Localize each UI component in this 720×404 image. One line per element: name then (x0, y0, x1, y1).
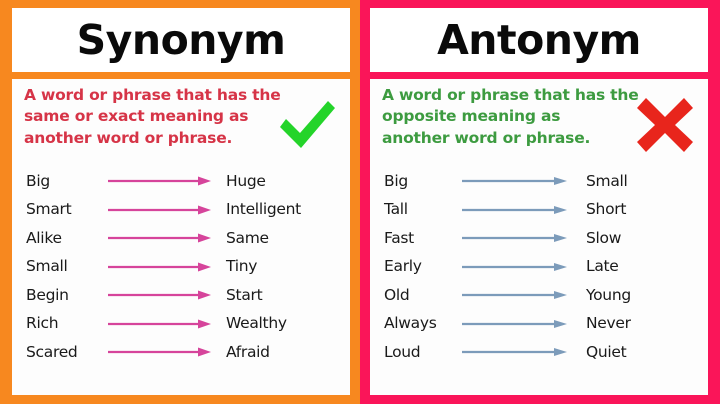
synonym-body-box: A word or phrase that has the same or ex… (12, 79, 350, 395)
antonym-source-word: Always (384, 316, 462, 332)
arrow-right-icon (108, 176, 216, 186)
arrow-right-icon (462, 347, 572, 357)
check-mark-icon (276, 95, 338, 155)
antonym-target-word: Young (572, 288, 700, 304)
arrow-right-icon (462, 233, 572, 243)
synonym-target-word: Tiny (216, 259, 342, 275)
synonym-panel: Synonym A word or phrase that has the sa… (0, 0, 360, 404)
arrow-right-icon (462, 176, 572, 186)
antonym-pair-list: Big Small Tall (370, 167, 708, 367)
synonym-panel-divider (12, 72, 350, 79)
synonym-source-word: Big (26, 174, 108, 190)
table-row: Always Never (384, 310, 700, 339)
antonym-body-box: A word or phrase that has the opposite m… (370, 79, 708, 395)
arrow-right-icon (108, 262, 216, 272)
table-row: Big Small (384, 167, 700, 196)
antonym-source-word: Loud (384, 345, 462, 361)
arrow-right-icon (462, 290, 572, 300)
arrow-right-icon (462, 205, 572, 215)
table-row: Scared Afraid (26, 338, 342, 367)
table-row: Fast Slow (384, 224, 700, 253)
antonym-panel: Antonym A word or phrase that has the op… (360, 0, 720, 404)
antonym-target-word: Slow (572, 231, 700, 247)
synonym-source-word: Smart (26, 202, 108, 218)
table-row: Tall Short (384, 196, 700, 225)
synonym-description-line-3: another word or phrase. (24, 128, 279, 149)
table-row: Begin Start (26, 281, 342, 310)
arrow-right-icon (108, 290, 216, 300)
arrow-right-icon (462, 262, 572, 272)
antonym-target-word: Late (572, 259, 700, 275)
antonym-source-word: Fast (384, 231, 462, 247)
table-row: Early Late (384, 253, 700, 282)
arrow-right-icon (108, 319, 216, 329)
synonym-source-word: Scared (26, 345, 108, 361)
antonym-description-line-1: A word or phrase that has the (382, 85, 637, 106)
antonym-source-word: Early (384, 259, 462, 275)
antonym-description-line-2: opposite meaning as (382, 106, 637, 127)
synonym-description-line-1: A word or phrase that has the (24, 85, 279, 106)
antonym-target-word: Never (572, 316, 700, 332)
synonym-target-word: Same (216, 231, 342, 247)
synonym-target-word: Huge (216, 174, 342, 190)
antonym-target-word: Quiet (572, 345, 700, 361)
synonym-antonym-infographic: Synonym A word or phrase that has the sa… (0, 0, 720, 404)
table-row: Loud Quiet (384, 338, 700, 367)
synonym-target-word: Start (216, 288, 342, 304)
synonym-target-word: Intelligent (216, 202, 342, 218)
synonym-source-word: Alike (26, 231, 108, 247)
synonym-description-line-2: same or exact meaning as (24, 106, 279, 127)
synonym-pair-list: Big Huge Smart (12, 167, 350, 367)
antonym-title-box: Antonym (370, 8, 708, 72)
synonym-source-word: Small (26, 259, 108, 275)
synonym-title: Synonym (77, 20, 286, 61)
antonym-target-word: Small (572, 174, 700, 190)
table-row: Old Young (384, 281, 700, 310)
arrow-right-icon (108, 205, 216, 215)
antonym-description-line-3: another word or phrase. (382, 128, 637, 149)
table-row: Rich Wealthy (26, 310, 342, 339)
synonym-target-word: Wealthy (216, 316, 342, 332)
antonym-source-word: Big (384, 174, 462, 190)
arrow-right-icon (108, 233, 216, 243)
antonym-source-word: Old (384, 288, 462, 304)
synonym-source-word: Rich (26, 316, 108, 332)
synonym-source-word: Begin (26, 288, 108, 304)
antonym-target-word: Short (572, 202, 700, 218)
arrow-right-icon (108, 347, 216, 357)
antonym-title: Antonym (437, 20, 641, 61)
table-row: Small Tiny (26, 253, 342, 282)
cross-mark-icon (634, 95, 696, 155)
arrow-right-icon (462, 319, 572, 329)
antonym-description: A word or phrase that has the opposite m… (370, 79, 637, 149)
synonym-description: A word or phrase that has the same or ex… (12, 79, 279, 149)
antonym-source-word: Tall (384, 202, 462, 218)
table-row: Big Huge (26, 167, 342, 196)
synonym-target-word: Afraid (216, 345, 342, 361)
table-row: Alike Same (26, 224, 342, 253)
synonym-title-box: Synonym (12, 8, 350, 72)
antonym-panel-divider (370, 72, 708, 79)
table-row: Smart Intelligent (26, 196, 342, 225)
